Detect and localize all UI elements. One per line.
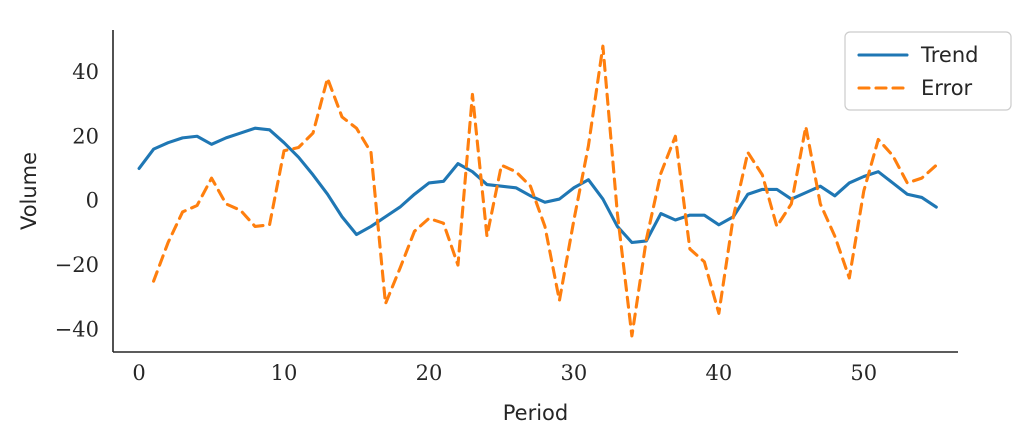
chart-legend[interactable]: TrendError: [845, 32, 1011, 110]
x-tick-label: 40: [705, 361, 732, 385]
x-tick-label: 50: [850, 361, 877, 385]
legend-label-error: Error: [921, 76, 973, 100]
x-tick-label: 0: [132, 361, 145, 385]
y-tick-label: 40: [72, 60, 99, 84]
x-tick-label: 30: [561, 361, 588, 385]
x-tick-label: 10: [271, 361, 298, 385]
y-tick-label: −40: [55, 317, 99, 341]
x-tick-label: 20: [416, 361, 443, 385]
y-tick-label: −20: [55, 253, 99, 277]
y-tick-label: 0: [86, 189, 99, 213]
chart-figure: −40−2002040 01020304050 Volume Period Tr…: [0, 0, 1024, 448]
y-axis-title: Volume: [17, 152, 41, 230]
line-chart: −40−2002040 01020304050 Volume Period Tr…: [0, 0, 1024, 448]
y-tick-label: 20: [72, 124, 99, 148]
legend-label-trend: Trend: [920, 43, 978, 67]
x-axis-title: Period: [503, 401, 568, 425]
